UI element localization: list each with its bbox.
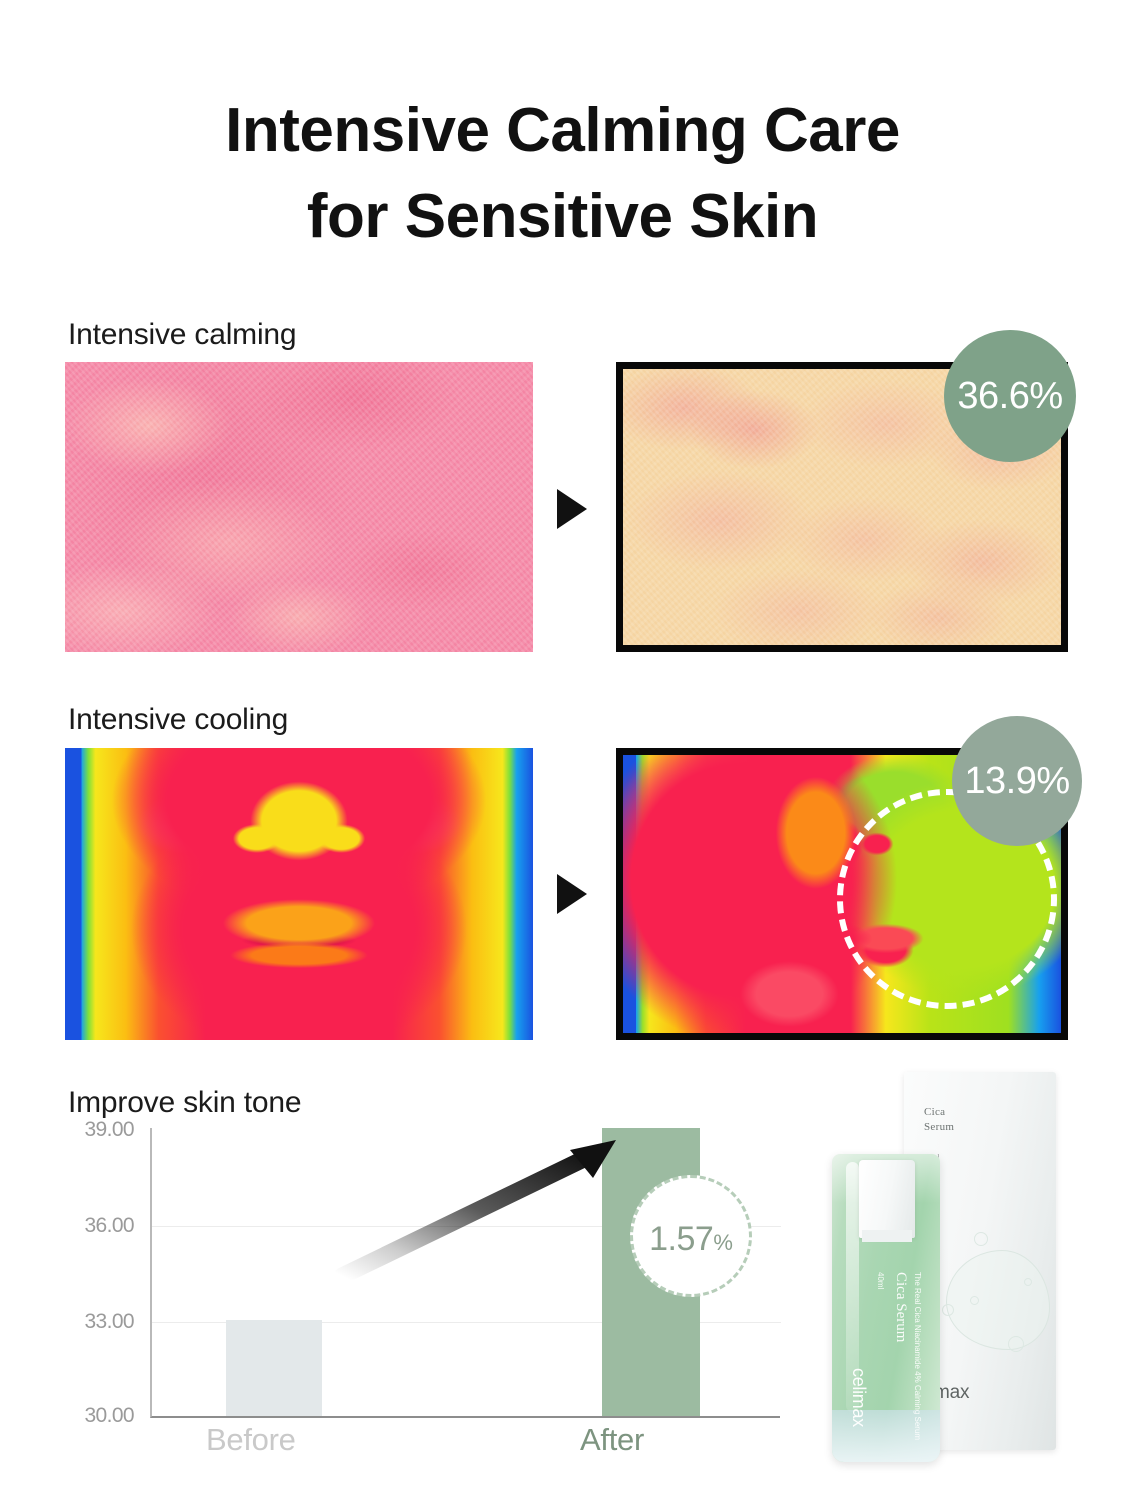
box-bubble-5 — [1024, 1278, 1032, 1286]
section-label-intensive-cooling: Intensive cooling — [68, 703, 288, 737]
cooling-before-thermal-image — [65, 748, 533, 1040]
callout-unit: % — [713, 1230, 733, 1256]
box-product-name-line-1: Cica — [924, 1106, 945, 1118]
box-product-name-line-2: Serum — [924, 1121, 954, 1133]
section-label-intensive-calming: Intensive calming — [68, 318, 296, 352]
bottle-product-name: Cica Serum — [892, 1272, 909, 1342]
callout-value: 1.57 — [649, 1220, 713, 1259]
bottle-description: The Real Cica Niacinamide 4% Calming Ser… — [910, 1272, 925, 1440]
page-title: Intensive Calming Care for Sensitive Ski… — [0, 88, 1125, 259]
status-badge-calming-percent: 36.6% — [944, 330, 1076, 462]
chart-y-axis: 39.00 36.00 33.00 30.00 — [68, 1128, 142, 1418]
thermal-map-before — [65, 748, 533, 1040]
product-image: Cica Serum 40ml limax 40ml Cica Serum Th… — [826, 1068, 1078, 1468]
status-badge-cooling-percent: 13.9% — [952, 716, 1082, 846]
box-bubble-4 — [1008, 1336, 1024, 1352]
arrow-right-icon-cooling — [557, 874, 587, 914]
page-title-line-1: Intensive Calming Care — [0, 88, 1125, 174]
x-label-before: Before — [206, 1422, 296, 1458]
bottle-brand-logo: celimax — [848, 1368, 869, 1427]
box-decorative-blob — [946, 1250, 1050, 1350]
chart-x-axis: Before After — [150, 1422, 780, 1462]
box-bubble-1 — [974, 1232, 988, 1246]
y-tick-label-2: 33.00 — [84, 1310, 134, 1334]
bottle-neck — [862, 1230, 912, 1242]
bottle-cap — [859, 1160, 915, 1238]
bar-before — [226, 1320, 322, 1416]
improvement-callout-badge: 1.57% — [630, 1175, 752, 1297]
skin-grain-overlay-before — [65, 362, 533, 652]
page-title-line-2: for Sensitive Skin — [0, 174, 1125, 260]
y-tick-label-3: 30.00 — [84, 1404, 134, 1428]
box-bubble-2 — [942, 1304, 954, 1316]
box-bubble-3 — [970, 1296, 979, 1305]
y-tick-label-1: 36.00 — [84, 1214, 134, 1238]
calming-before-image — [65, 362, 533, 652]
x-label-after: After — [580, 1422, 644, 1458]
arrow-right-icon-calming — [557, 489, 587, 529]
infographic-page: Intensive Calming Care for Sensitive Ski… — [0, 0, 1125, 1500]
bottle-volume-label: 40ml — [876, 1272, 885, 1289]
y-tick-label-0: 39.00 — [84, 1118, 134, 1142]
section-label-improve-skin-tone: Improve skin tone — [68, 1086, 301, 1120]
